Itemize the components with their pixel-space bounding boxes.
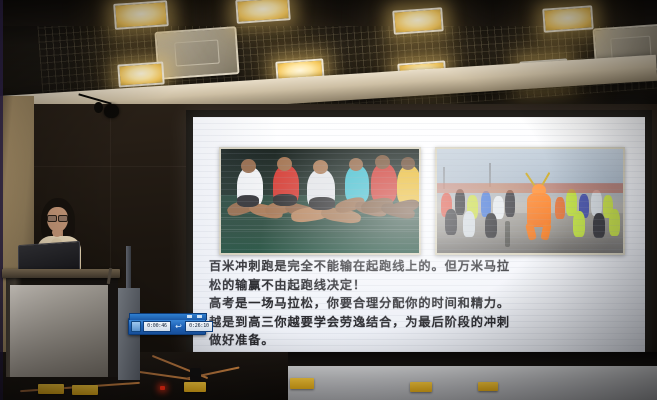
speaker-pole	[126, 246, 131, 292]
podium-top-surface	[2, 269, 120, 278]
cable-tape-6	[478, 382, 498, 391]
left-edge-artifact	[0, 0, 3, 400]
duration-time: 0:26:10	[185, 321, 213, 332]
projection-screen: 百米冲刺跑是完全不能输在起跑线上的。但万米马拉 松的输赢不由起跑线决定！ 高考是…	[193, 117, 645, 352]
marathon-start-photo	[435, 147, 625, 255]
slide-text-line-5: 做好准备。	[209, 331, 639, 350]
minimize-icon[interactable]	[187, 315, 192, 318]
cable-tape-5	[410, 382, 432, 392]
slide-text-line-2: 松的输赢不由起跑线决定！	[209, 276, 639, 295]
elapsed-time: 0:00:46	[143, 321, 171, 332]
slide-text-line-4: 越是到高三你越要学会劳逸结合，为最后阶段的冲刺	[209, 313, 639, 332]
ceiling-light-2	[235, 0, 291, 24]
cable-tape-3	[184, 382, 206, 392]
ceiling-light-5	[117, 61, 164, 87]
player-titlebar[interactable]	[129, 313, 207, 320]
podium-shading	[10, 285, 108, 377]
cable-connector-box	[190, 368, 201, 381]
lecture-hall-photo: 百米冲刺跑是完全不能输在起跑线上的。但万米马拉 松的输赢不由起跑线决定！ 高考是…	[0, 0, 657, 400]
ceiling-light-3	[392, 7, 444, 34]
presenter-hand	[52, 228, 62, 237]
rewind-icon[interactable]: ↩	[174, 322, 183, 331]
sprint-start-photo	[219, 147, 421, 255]
ceiling-light-1	[113, 0, 169, 30]
play-button[interactable]	[131, 321, 141, 332]
glasses-icon	[47, 215, 68, 220]
power-led-indicator	[160, 386, 165, 390]
slide-body-text: 百米冲刺跑是完全不能输在起跑线上的。但万米马拉 松的输赢不由起跑线决定！ 高考是…	[209, 257, 639, 350]
cable-tape-4	[290, 378, 314, 389]
media-player-control-bar[interactable]: 0:00:46 ↩ 0:26:10	[128, 318, 206, 335]
cable-tape-1	[38, 384, 64, 394]
slide-text-line-1: 百米冲刺跑是完全不能输在起跑线上的。但万米马拉	[209, 257, 639, 276]
close-icon[interactable]	[197, 315, 202, 318]
slide-text-line-3: 高考是一场马拉松，你要合理分配你的时间和精力。	[209, 294, 639, 313]
cable-tape-2	[72, 385, 98, 395]
ceiling-camera-fixture	[78, 96, 120, 122]
ac-vent-left	[154, 26, 239, 80]
costumed-runner	[523, 177, 555, 239]
ceiling-light-4	[542, 5, 594, 32]
